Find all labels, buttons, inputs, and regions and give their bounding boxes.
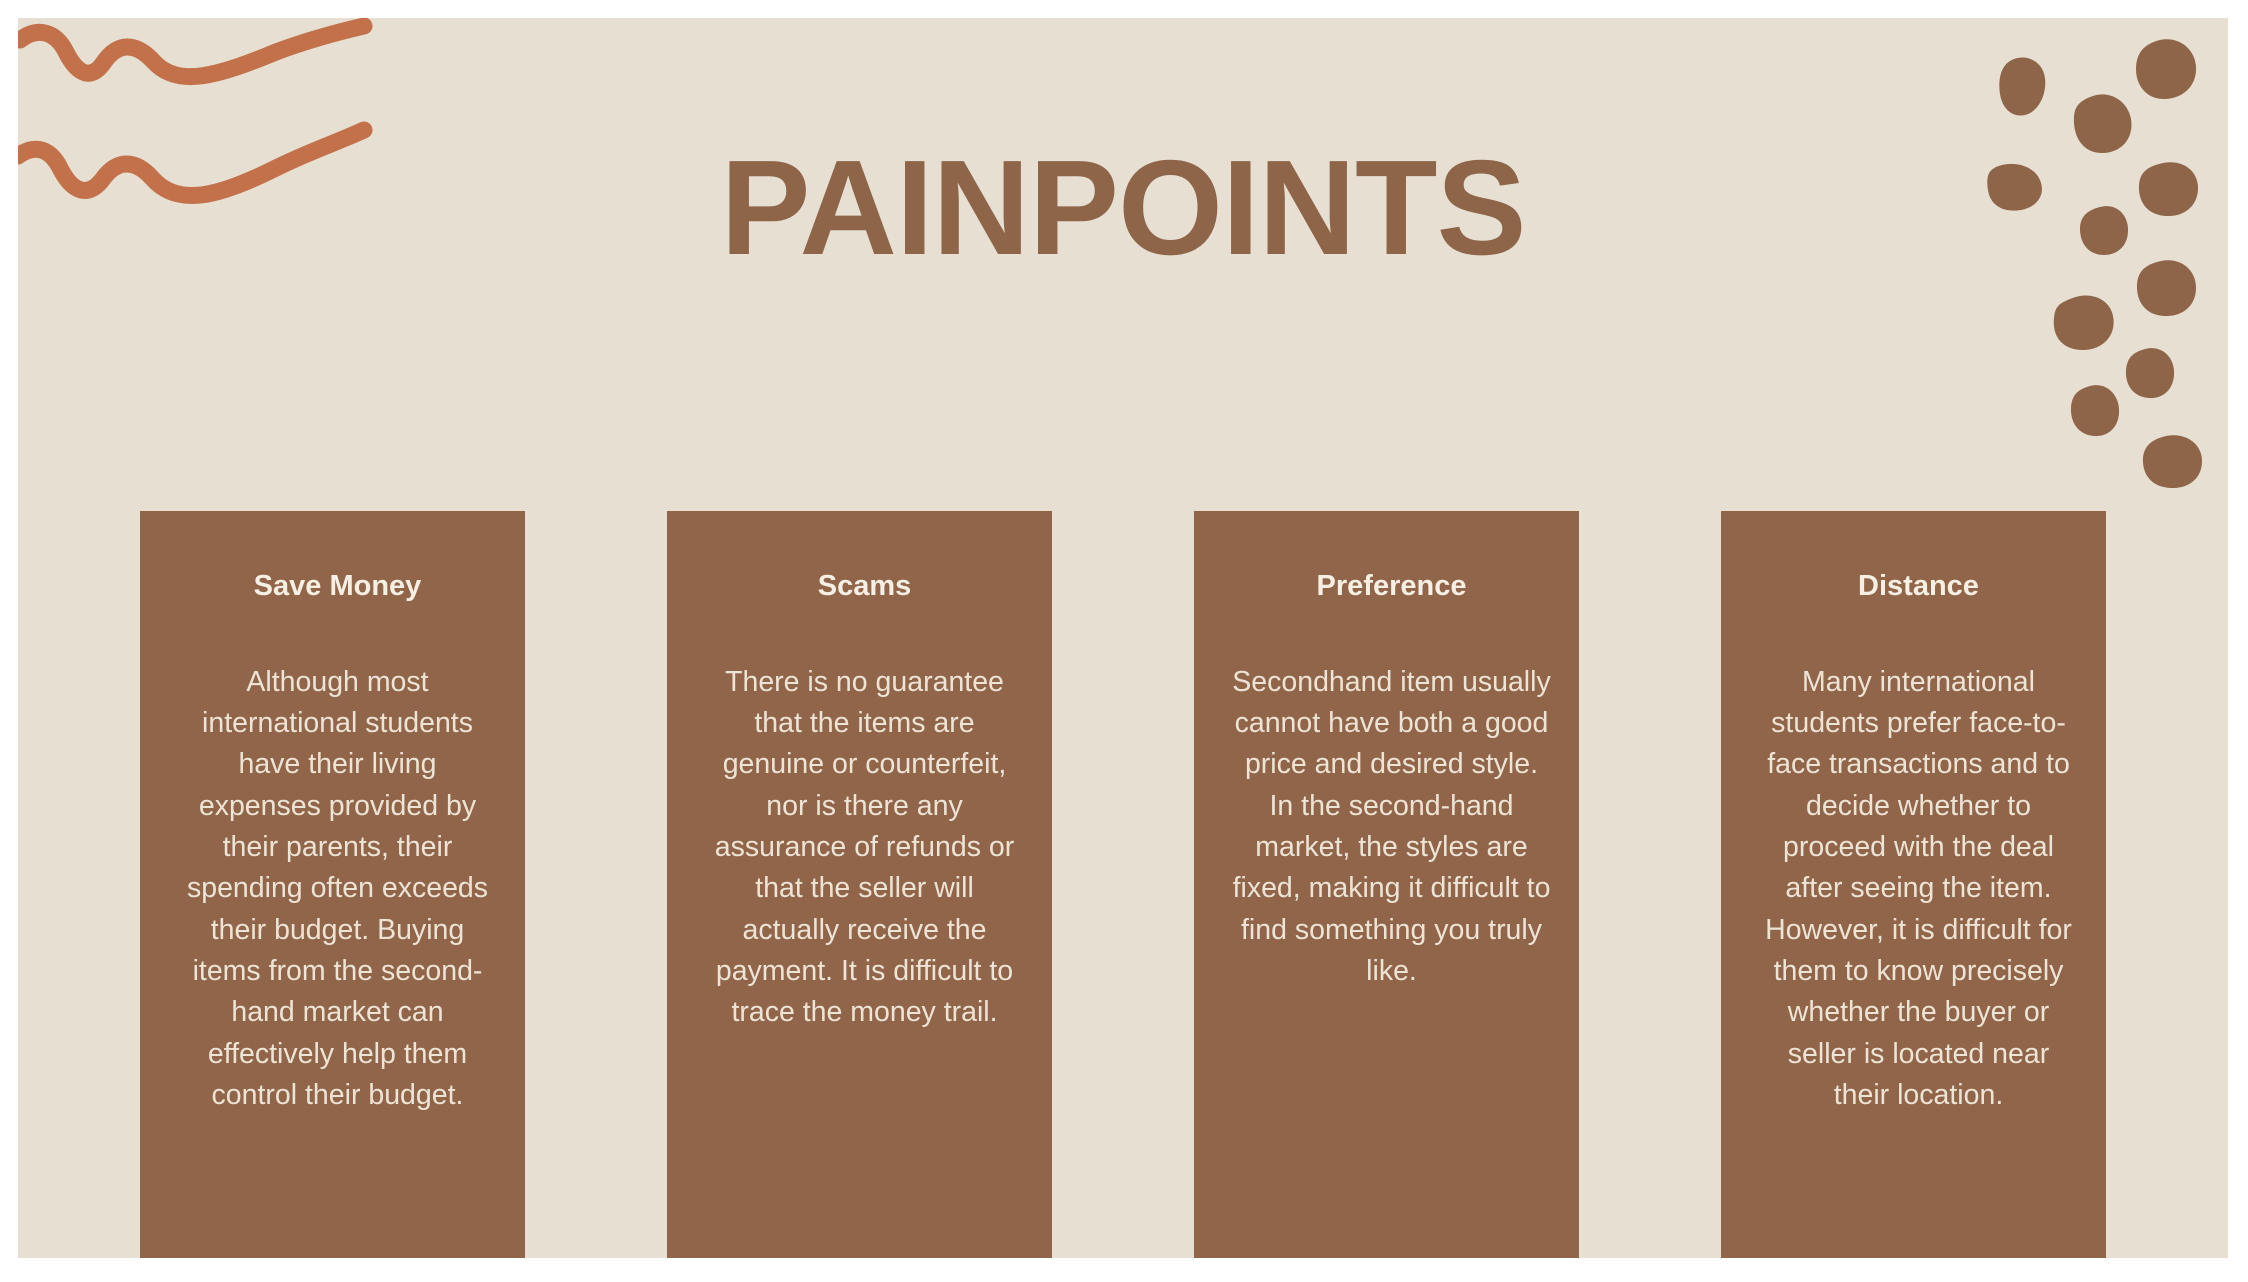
card-title: Scams [703,569,1026,604]
blob-9 [2126,348,2174,398]
painpoint-card-distance: Distance Many international students pre… [1721,511,2106,1258]
painpoint-card-save-money: Save Money Although most international s… [140,511,525,1258]
card-title: Preference [1230,569,1553,604]
wavy-line-upper [20,26,364,77]
blob-11 [2143,435,2202,488]
painpoint-card-row: Save Money Although most international s… [140,511,2106,1258]
card-body: There is no guarantee that the items are… [703,662,1026,1034]
card-title: Distance [1757,569,2080,604]
card-title: Save Money [176,569,499,604]
painpoint-card-scams: Scams There is no guarantee that the ite… [667,511,1052,1258]
blob-8 [2054,295,2114,350]
painpoint-card-preference: Preference Secondhand item usually canno… [1194,511,1579,1258]
page-title: PAINPOINTS [18,140,2228,275]
blob-2 [2136,39,2196,99]
card-body: Although most international students hav… [176,662,499,1116]
blob-10 [2071,385,2119,436]
blob-1 [1999,58,2045,116]
card-body: Many international students prefer face-… [1757,662,2080,1116]
card-body: Secondhand item usually cannot have both… [1230,662,1553,993]
slide-canvas: PAINPOINTS Save Money Although most inte… [18,18,2228,1258]
